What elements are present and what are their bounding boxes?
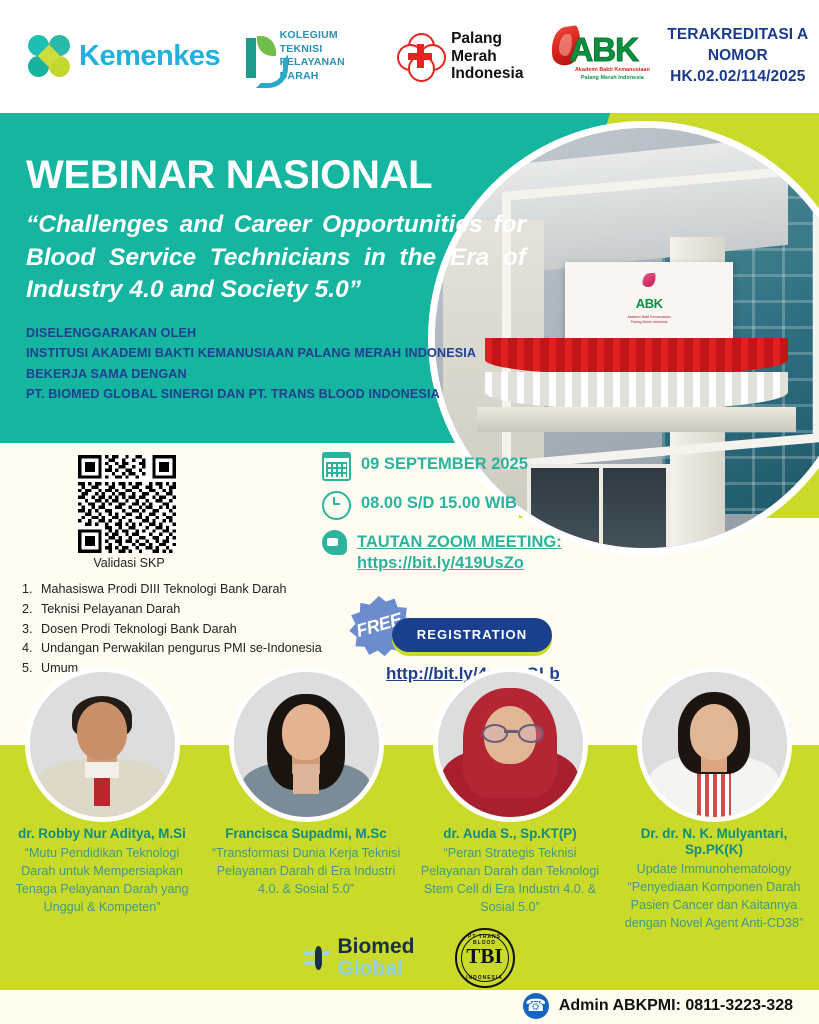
zoom-meeting-link[interactable]: https://bit.ly/419UsZo: [357, 553, 562, 574]
speaker-topic: “Peran Strategis Teknisi Pelayanan Darah…: [415, 845, 605, 917]
admin-contact-text: Admin ABKPMI: 0811-3223-328: [559, 997, 793, 1015]
phone-icon: [523, 993, 549, 1019]
speaker-photo: [438, 672, 583, 817]
sponsor-logo-row: Biomed Global PT TRANS BLOOD TBI INDONES…: [0, 928, 819, 988]
abk-sub-1: Akademi Bakti Kemanusiaan: [575, 67, 650, 73]
abk-sub-2: Palang Merah Indonesia: [581, 75, 644, 81]
organizer-block: DISELENGGARAKAN OLEH INSTITUSI AKADEMI B…: [26, 323, 556, 405]
list-item: 2. Teknisi Pelayanan Darah: [22, 600, 352, 620]
hero-subtitle: “Challenges and Career Opportunities for…: [26, 209, 526, 307]
time-row: 08.00 S/D 15.00 WIB: [322, 491, 622, 520]
video-camera-icon: [322, 530, 347, 555]
audience-list: 1. Mahasiswa Prodi DIII Teknologi Bank D…: [22, 580, 352, 679]
zoom-row: TAUTAN ZOOM MEETING: https://bit.ly/419U…: [322, 530, 622, 575]
kolegium-line-1: KOLEGIUM: [280, 29, 369, 43]
accreditation-line-1: TERAKREDITASI A: [657, 25, 819, 46]
list-item: 3. Dosen Prodi Teknologi Bank Darah: [22, 620, 352, 640]
zoom-label: TAUTAN ZOOM MEETING:: [357, 533, 562, 551]
banner-flame-icon: [643, 273, 656, 287]
list-item-number: 4.: [22, 639, 37, 659]
partner-name: PT. BIOMED GLOBAL SINERGI DAN PT. TRANS …: [26, 384, 556, 404]
speaker-topic: Update Immunohematology “Penyediaan Komp…: [619, 861, 809, 933]
biomed-global-logo: Biomed Global: [304, 936, 414, 980]
pmi-line-1: Palang: [451, 30, 523, 47]
photo-abk-banner: ABK Akademi Bakti KemanusiaanPalang Mera…: [565, 262, 733, 338]
date-row: 09 SEPTEMBER 2025: [322, 452, 622, 481]
accreditation-line-2: NOMOR HK.02.02/114/2025: [657, 46, 819, 88]
photo-slab: [477, 407, 796, 432]
organizer-label: DISELENGGARAKAN OLEH: [26, 323, 556, 343]
pmi-line-3: Indonesia: [451, 65, 523, 82]
partner-label: BEKERJA SAMA DENGAN: [26, 364, 556, 384]
banner-subtext: Akademi Bakti KemanusiaanPalang Merah In…: [565, 315, 733, 325]
header-logo-band: Kemenkes KOLEGIUM TEKNISI PELAYANAN DARA…: [0, 0, 819, 113]
event-info-block: 09 SEPTEMBER 2025 08.00 S/D 15.00 WIB TA…: [322, 452, 622, 585]
kolegium-line-2: TEKNISI PELAYANAN: [280, 43, 369, 71]
biomed-line-2: Global: [337, 958, 414, 980]
accreditation-text: TERAKREDITASI A NOMOR HK.02.02/114/2025: [657, 25, 819, 88]
kemenkes-logo: Kemenkes: [28, 35, 220, 77]
list-item-label: Dosen Prodi Teknologi Bank Darah: [41, 620, 237, 640]
list-item-number: 2.: [22, 600, 37, 620]
speaker-name: Francisca Supadmi, M.Sc: [225, 826, 387, 842]
registration-button-label: REGISTRATION: [392, 618, 552, 652]
list-item-number: 3.: [22, 620, 37, 640]
speaker-photo: [30, 672, 175, 817]
speaker-name: dr. Robby Nur Aditya, M.Si: [18, 826, 186, 842]
kolegium-line-3: DARAH: [280, 70, 369, 84]
pmi-logo: Palang Merah Indonesia: [397, 30, 523, 82]
logo-row: Kemenkes KOLEGIUM TEKNISI PELAYANAN DARA…: [0, 25, 819, 88]
qr-code-block: Validasi SKP: [64, 455, 194, 570]
registration-button[interactable]: REGISTRATION: [392, 618, 552, 652]
list-item: 1. Mahasiswa Prodi DIII Teknologi Bank D…: [22, 580, 352, 600]
organizer-name: INSTITUSI AKADEMI BAKTI KEMANUSIAAN PALA…: [26, 343, 556, 363]
speaker-topic: “Mutu Pendidikan Teknologi Darah untuk M…: [7, 845, 197, 917]
pmi-line-2: Merah: [451, 48, 523, 65]
speaker-name: dr. Auda S., Sp.KT(P): [443, 826, 576, 842]
red-cross-icon: [397, 33, 443, 79]
tbi-ring-bottom: INDONESIA: [457, 975, 513, 981]
banner-abk-word: ABK: [565, 296, 733, 311]
kolegium-logo: KOLEGIUM TEKNISI PELAYANAN DARAH: [246, 29, 369, 84]
page-title: WEBINAR NASIONAL: [26, 155, 556, 195]
speaker-card: Dr. dr. N. K. Mulyantari, Sp.PK(K) Updat…: [612, 672, 816, 933]
speaker-photo: [642, 672, 787, 817]
speaker-card: Francisca Supadmi, M.Sc “Transformasi Du…: [204, 672, 408, 933]
tbi-monogram: TBI: [457, 944, 513, 969]
event-time: 08.00 S/D 15.00 WIB: [361, 491, 517, 514]
webinar-poster: ABK Akademi Bakti KemanusiaanPalang Mera…: [0, 0, 819, 1024]
abk-label: ABK: [569, 31, 638, 69]
kemenkes-label: Kemenkes: [79, 40, 220, 73]
list-item: 4. Undangan Perwakilan pengurus PMI se-I…: [22, 639, 352, 659]
qr-code-image: [64, 455, 190, 553]
biomed-label: Biomed Global: [337, 936, 414, 980]
tbi-logo: PT TRANS BLOOD TBI INDONESIA: [455, 928, 515, 988]
list-item-label: Undangan Perwakilan pengurus PMI se-Indo…: [41, 639, 322, 659]
speaker-card: dr. Auda S., Sp.KT(P) “Peran Strategis T…: [408, 672, 612, 933]
kolegium-label: KOLEGIUM TEKNISI PELAYANAN DARAH: [280, 29, 369, 84]
hero-text-block: WEBINAR NASIONAL “Challenges and Career …: [26, 155, 556, 404]
qr-caption: Validasi SKP: [64, 556, 194, 570]
biomed-line-1: Biomed: [337, 936, 414, 958]
list-item-label: Mahasiswa Prodi DIII Teknologi Bank Dara…: [41, 580, 286, 600]
biomed-icon: [304, 943, 330, 973]
event-date: 09 SEPTEMBER 2025: [361, 452, 528, 475]
pmi-label: Palang Merah Indonesia: [451, 30, 523, 82]
clock-icon: [322, 491, 351, 520]
speaker-card: dr. Robby Nur Aditya, M.Si “Mutu Pendidi…: [0, 672, 204, 933]
speaker-name: Dr. dr. N. K. Mulyantari, Sp.PK(K): [612, 826, 816, 858]
kemenkes-icon: [28, 35, 70, 77]
kolegium-icon: [246, 34, 273, 79]
list-item-number: 1.: [22, 580, 37, 600]
speaker-photo: [234, 672, 379, 817]
speaker-topic: “Transformasi Dunia Kerja Teknisi Pelaya…: [211, 845, 401, 899]
speakers-row: dr. Robby Nur Aditya, M.Si “Mutu Pendidi…: [0, 672, 819, 933]
admin-contact: Admin ABKPMI: 0811-3223-328: [523, 993, 793, 1019]
abk-sublabel: Akademi Bakti Kemanusiaan Palang Merah I…: [570, 67, 654, 82]
abk-logo: ABK Akademi Bakti Kemanusiaan Palang Mer…: [545, 25, 636, 87]
calendar-icon: [322, 452, 351, 481]
list-item-label: Teknisi Pelayanan Darah: [41, 600, 180, 620]
